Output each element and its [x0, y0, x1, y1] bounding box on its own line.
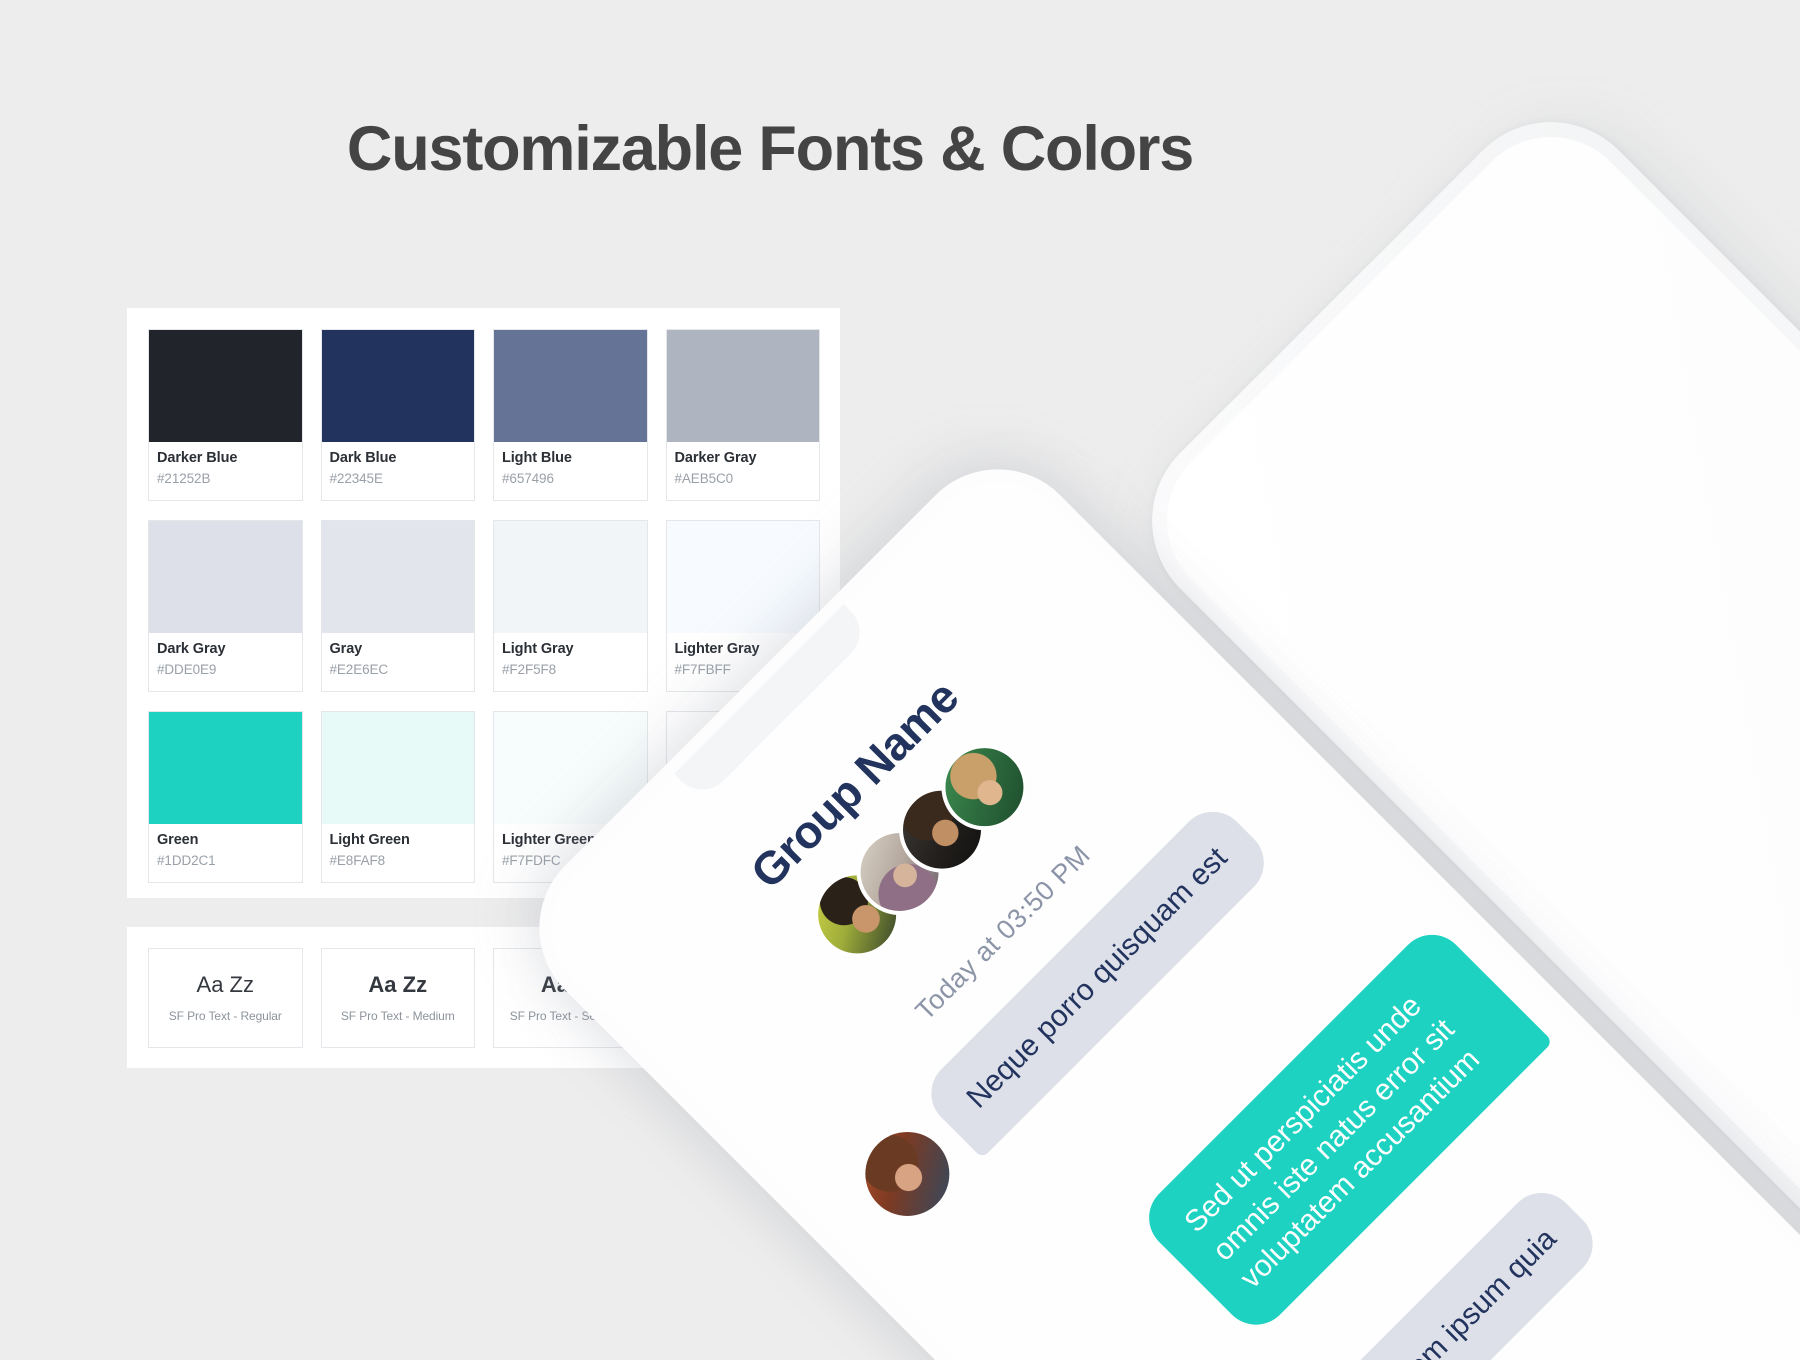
- swatch-grid: Darker Blue#21252BDark Blue#22345ELight …: [148, 329, 820, 883]
- swatch-name: Dark Blue: [330, 451, 475, 467]
- swatch-card[interactable]: Light Blue#657496: [493, 329, 648, 501]
- avatar-woman-blonde: [924, 726, 1046, 848]
- font-specimen-grid: Aa ZzSF Pro Text - RegularAa ZzSF Pro Te…: [148, 948, 820, 1048]
- avatar-woman-scarf: [839, 811, 961, 933]
- swatch-name: White: [675, 833, 820, 849]
- swatch-hex-value: #AEB5C0: [675, 472, 820, 487]
- swatch-hex-value: #22345E: [330, 472, 475, 487]
- swatch-name: Darker Blue: [157, 451, 302, 467]
- font-specimen-card[interactable]: Aa ZzSF Pro Text - Medium: [321, 948, 476, 1048]
- swatch-card[interactable]: Darker Gray#AEB5C0: [666, 329, 821, 501]
- phone-device-back: [1112, 82, 1800, 1360]
- swatch-card[interactable]: Green#1DD2C1: [148, 711, 303, 883]
- font-sample-glyphs: Aa Zz: [197, 974, 254, 996]
- font-specimen-label: SF Pro Text - Bold: [695, 1009, 790, 1023]
- swatch-hex-value: #E2E6EC: [330, 663, 475, 678]
- swatch-meta: Darker Gray#AEB5C0: [667, 442, 820, 487]
- swatch-hex-value: #F2F5F8: [502, 663, 647, 678]
- swatch-meta: Light Gray#F2F5F8: [494, 633, 647, 678]
- swatch-hex-value: #F7FBFF: [675, 663, 820, 678]
- avatar-woman-red: [848, 1114, 967, 1233]
- font-specimen-card[interactable]: Aa ZzSF Pro Text - Regular: [148, 948, 303, 1048]
- swatch-name: Lighter Gray: [675, 642, 820, 658]
- swatch-name: Gray: [330, 642, 475, 658]
- swatch-name: Light Gray: [502, 642, 647, 658]
- swatch-card[interactable]: Gray#E2E6EC: [321, 520, 476, 692]
- swatch-color-chip: [322, 330, 475, 442]
- swatch-meta: Lighter Green#F7FDFC: [494, 824, 647, 869]
- swatch-name: Darker Gray: [675, 451, 820, 467]
- swatch-card[interactable]: Lighter Gray#F7FBFF: [666, 520, 821, 692]
- swatch-meta: Gray#E2E6EC: [322, 633, 475, 678]
- swatch-color-chip: [149, 712, 302, 824]
- font-specimen-card[interactable]: Aa ZzSF Pro Text - Semibold: [493, 948, 648, 1048]
- swatch-color-chip: [667, 330, 820, 442]
- swatch-card[interactable]: Light Gray#F2F5F8: [493, 520, 648, 692]
- swatch-meta: Lighter Gray#F7FBFF: [667, 633, 820, 678]
- font-specimen-label: SF Pro Text - Medium: [341, 1009, 455, 1023]
- color-palette-panel: Darker Blue#21252BDark Blue#22345ELight …: [127, 308, 840, 898]
- avatar-man-curly: [881, 769, 1003, 891]
- swatch-hex-value: #F7FDFC: [502, 854, 647, 869]
- swatch-color-chip: [494, 330, 647, 442]
- swatch-meta: Green#1DD2C1: [149, 824, 302, 869]
- typography-panel: Aa ZzSF Pro Text - RegularAa ZzSF Pro Te…: [127, 927, 840, 1068]
- swatch-name: Dark Gray: [157, 642, 302, 658]
- swatch-color-chip: [494, 521, 647, 633]
- chat-bubble-incoming: Neque porro quisquam est: [917, 798, 1277, 1158]
- swatch-hex-value: #21252B: [157, 472, 302, 487]
- font-specimen-label: SF Pro Text - Semibold: [510, 1009, 631, 1023]
- font-specimen-card[interactable]: Aa ZzSF Pro Text - Bold: [666, 948, 821, 1048]
- font-sample-glyphs: Aa Zz: [541, 974, 600, 996]
- chat-message-row: Sed ut perspiciatis unde omnis iste natu…: [1135, 921, 1553, 1339]
- swatch-card[interactable]: Lighter Green#F7FDFC: [493, 711, 648, 883]
- chat-message-row: Neque porro quisquam est: [842, 798, 1277, 1233]
- swatch-meta: Dark Blue#22345E: [322, 442, 475, 487]
- font-sample-glyphs: Aa Zz: [713, 974, 772, 996]
- swatch-name: Lighter Green: [502, 833, 647, 849]
- swatch-color-chip: [494, 712, 647, 824]
- swatch-card[interactable]: Light Green#E8FAF8: [321, 711, 476, 883]
- swatch-card[interactable]: White#FFFFFF: [666, 711, 821, 883]
- swatch-meta: Light Green#E8FAF8: [322, 824, 475, 869]
- chat-bubble-incoming: Qui dolorem ipsum quia: [1272, 1179, 1606, 1360]
- swatch-hex-value: #E8FAF8: [330, 854, 475, 869]
- swatch-meta: White#FFFFFF: [667, 824, 820, 869]
- swatch-hex-value: #FFFFFF: [675, 854, 820, 869]
- swatch-color-chip: [667, 521, 820, 633]
- swatch-color-chip: [667, 712, 820, 824]
- swatch-meta: Darker Blue#21252B: [149, 442, 302, 487]
- font-specimen-label: SF Pro Text - Regular: [169, 1009, 282, 1023]
- swatch-hex-value: #657496: [502, 472, 647, 487]
- chat-bubble-outgoing: Sed ut perspiciatis unde omnis iste natu…: [1135, 921, 1553, 1339]
- swatch-meta: Dark Gray#DDE0E9: [149, 633, 302, 678]
- swatch-hex-value: #DDE0E9: [157, 663, 302, 678]
- swatch-color-chip: [322, 712, 475, 824]
- phone-device-back-screen: [1132, 102, 1800, 1360]
- swatch-card[interactable]: Darker Blue#21252B: [148, 329, 303, 501]
- swatch-meta: Light Blue#657496: [494, 442, 647, 487]
- swatch-color-chip: [149, 330, 302, 442]
- swatch-name: Light Blue: [502, 451, 647, 467]
- chat-message-row: Qui dolorem ipsum quia: [1197, 1179, 1606, 1360]
- swatch-color-chip: [149, 521, 302, 633]
- swatch-card[interactable]: Dark Gray#DDE0E9: [148, 520, 303, 692]
- swatch-name: Light Green: [330, 833, 475, 849]
- font-sample-glyphs: Aa Zz: [368, 974, 427, 996]
- swatch-hex-value: #1DD2C1: [157, 854, 302, 869]
- page-title: Customizable Fonts & Colors: [0, 113, 1540, 185]
- swatch-name: Green: [157, 833, 302, 849]
- swatch-color-chip: [322, 521, 475, 633]
- swatch-card[interactable]: Dark Blue#22345E: [321, 329, 476, 501]
